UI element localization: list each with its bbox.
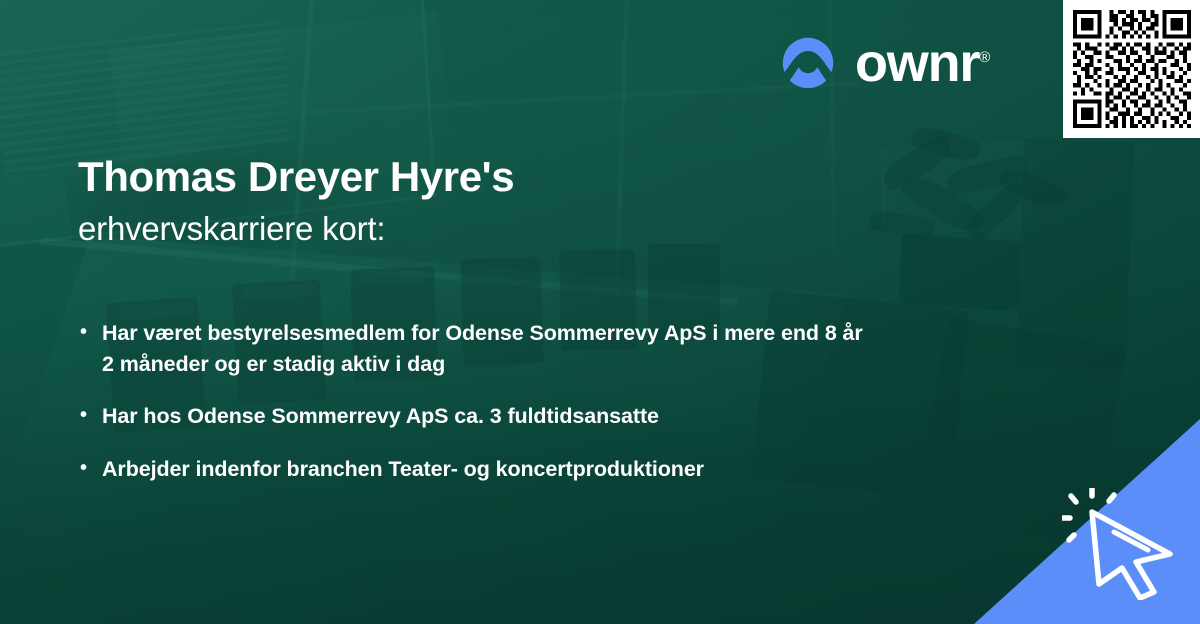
- ownr-profile-card: ownr®: [0, 0, 1200, 624]
- bullet-icon: •: [80, 318, 102, 379]
- list-item-text: Har hos Odense Sommerrevy ApS ca. 3 fuld…: [102, 401, 872, 432]
- list-item-text: Har været bestyrelsesmedlem for Odense S…: [102, 318, 872, 379]
- list-item: • Har hos Odense Sommerrevy ApS ca. 3 fu…: [80, 401, 940, 432]
- brand-wordmark: ownr®: [855, 36, 990, 90]
- ownr-logo-icon: [778, 33, 838, 93]
- list-item: • Arbejder indenfor branchen Teater- og …: [80, 454, 940, 485]
- headline-block: Thomas Dreyer Hyre's erhvervskarriere ko…: [78, 152, 908, 250]
- page-subtitle: erhvervskarriere kort:: [78, 208, 908, 251]
- page-title: Thomas Dreyer Hyre's: [78, 152, 908, 202]
- list-item: • Har været bestyrelsesmedlem for Odense…: [80, 318, 940, 379]
- qr-code[interactable]: [1063, 0, 1200, 138]
- background-photo: [0, 0, 1200, 624]
- registered-mark: ®: [979, 49, 990, 66]
- click-cursor-icon: [1062, 488, 1182, 600]
- list-item-text: Arbejder indenfor branchen Teater- og ko…: [102, 454, 872, 485]
- brand-lockup: ownr®: [778, 33, 990, 93]
- career-facts-list: • Har været bestyrelsesmedlem for Odense…: [80, 318, 940, 484]
- qr-code-icon: [1073, 10, 1191, 128]
- bullet-icon: •: [80, 454, 102, 485]
- brand-name-text: ownr: [855, 33, 979, 93]
- bullet-icon: •: [80, 401, 102, 432]
